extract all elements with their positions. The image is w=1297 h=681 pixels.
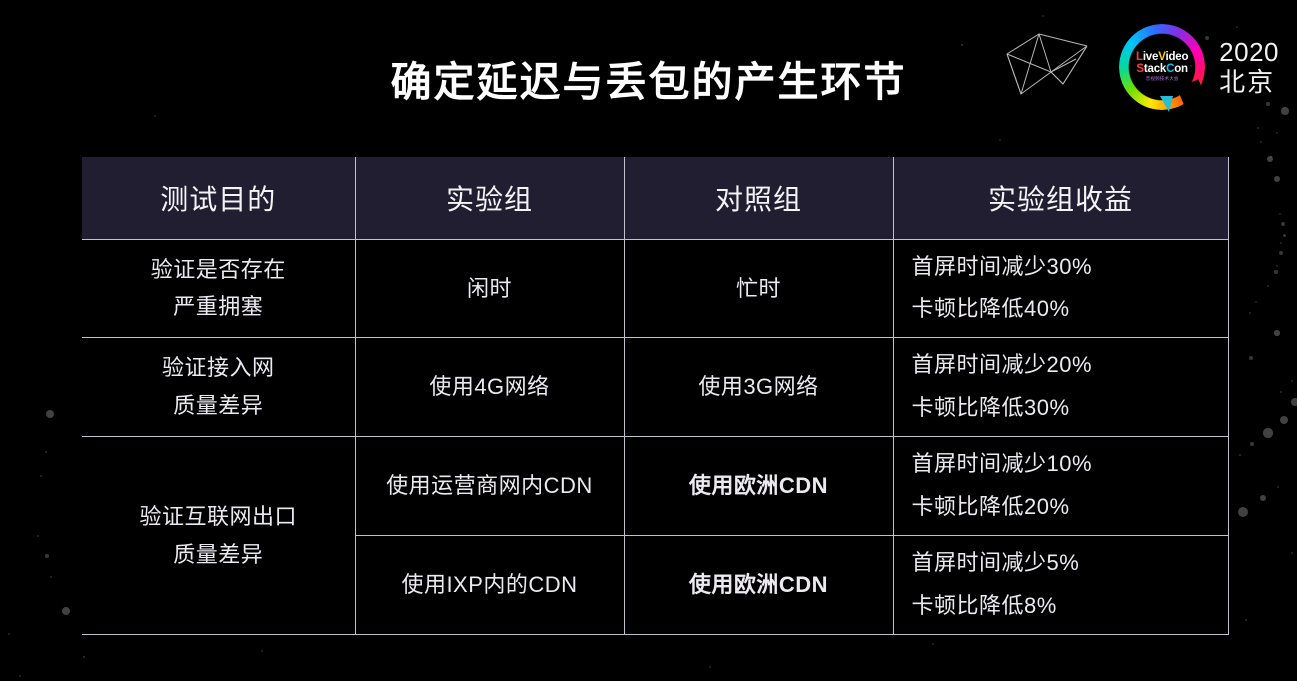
background-particle: [1238, 507, 1248, 517]
cell-control-group-line: 使用欧洲CDN: [635, 467, 883, 505]
logo-subtitle: 音视频技术大会: [1136, 77, 1188, 82]
cell-experiment-benefit-line: 首屏时间减少10%: [912, 443, 1218, 486]
background-particle: [62, 607, 71, 616]
background-particle: [1249, 312, 1252, 315]
cell-experiment-group: 使用运营商网内CDN: [355, 437, 624, 536]
cell-control-group: 忙时: [624, 239, 893, 338]
column-header-experiment: 实验组: [355, 157, 624, 239]
cell-test-purpose-line: 质量差异: [92, 387, 345, 425]
cell-control-group: 使用欧洲CDN: [624, 536, 893, 635]
background-particle: [1276, 132, 1279, 135]
background-particle: [50, 576, 52, 578]
background-particle: [8, 633, 10, 635]
table-row: 验证互联网出口质量差异使用运营商网内CDN使用欧洲CDN首屏时间减少10%卡顿比…: [82, 437, 1228, 536]
cell-test-purpose-line: 验证互联网出口: [92, 498, 345, 536]
cell-control-group: 使用3G网络: [624, 338, 893, 437]
background-particle: [1279, 213, 1282, 216]
background-particle: [1291, 552, 1293, 554]
background-particle: [709, 666, 711, 668]
background-particle: [1255, 301, 1257, 303]
background-particle: [961, 44, 964, 47]
cell-test-purpose: 验证接入网质量差异: [82, 338, 355, 437]
cell-experiment-group-line: 使用IXP内的CDN: [366, 566, 614, 604]
background-particle: [1279, 251, 1284, 256]
cell-test-purpose-line: 质量差异: [92, 536, 345, 574]
background-particle: [1239, 454, 1241, 456]
background-particle: [1267, 156, 1273, 162]
background-particle: [45, 554, 48, 557]
cell-control-group-line: 使用欧洲CDN: [635, 566, 883, 604]
background-particle: [1245, 619, 1247, 621]
background-particle: [1267, 285, 1269, 287]
cell-control-group-line: 使用3G网络: [635, 368, 883, 406]
cell-experiment-benefit-line: 卡顿比降低20%: [912, 486, 1218, 529]
background-particle: [1280, 391, 1282, 393]
background-particle: [40, 475, 42, 477]
background-particle: [45, 451, 47, 453]
table-row: 验证是否存在严重拥塞闲时忙时首屏时间减少30%卡顿比降低40%: [82, 239, 1228, 338]
background-particle: [154, 115, 156, 117]
background-particle: [1291, 398, 1297, 407]
logo-line2-part4: on: [1174, 63, 1188, 75]
cell-experiment-group-line: 使用4G网络: [366, 368, 614, 406]
logo-line2-part3: C: [1166, 63, 1174, 75]
cell-experiment-benefit: 首屏时间减少30%卡顿比降低40%: [893, 239, 1228, 338]
logo-wordmark: LiveVideo StackCon 音视频技术大会: [1136, 52, 1188, 81]
background-particle: [1250, 442, 1253, 445]
background-particle: [1280, 416, 1288, 424]
column-header-control: 对照组: [624, 157, 893, 239]
background-particle: [1263, 428, 1272, 437]
logo-line1-part2: ive: [1143, 51, 1158, 63]
background-particle: [1274, 330, 1279, 335]
cell-test-purpose-line: 验证接入网: [92, 349, 345, 387]
background-particle: [999, 139, 1002, 142]
background-particle: [261, 650, 263, 652]
cell-test-purpose: 验证是否存在严重拥塞: [82, 239, 355, 338]
experiment-comparison-table: 测试目的 实验组 对照组 实验组收益 验证是否存在严重拥塞闲时忙时首屏时间减少3…: [82, 157, 1229, 635]
cell-experiment-benefit-line: 卡顿比降低40%: [912, 288, 1218, 331]
table-header: 测试目的 实验组 对照组 实验组收益: [82, 157, 1228, 239]
table-header-row: 测试目的 实验组 对照组 实验组收益: [82, 157, 1228, 239]
background-particle: [83, 656, 86, 659]
background-particle: [19, 675, 21, 677]
background-particle: [1042, 15, 1044, 17]
cell-control-group: 使用欧洲CDN: [624, 437, 893, 536]
background-particle: [1270, 156, 1272, 158]
cell-experiment-group-line: 闲时: [366, 270, 614, 308]
page-title: 确定延迟与丢包的产生环节: [0, 48, 1297, 108]
background-particle: [37, 535, 39, 537]
cell-experiment-group: 使用IXP内的CDN: [355, 536, 624, 635]
cell-test-purpose-line: 验证是否存在: [92, 251, 345, 289]
background-particle: [1281, 107, 1288, 114]
cell-experiment-benefit-line: 首屏时间减少30%: [912, 246, 1218, 289]
background-particle: [1274, 176, 1280, 182]
cell-experiment-benefit: 首屏时间减少10%卡顿比降低20%: [893, 437, 1228, 536]
background-particle: [1276, 265, 1278, 267]
background-particle: [46, 410, 55, 419]
cell-experiment-benefit: 首屏时间减少20%卡顿比降低30%: [893, 338, 1228, 437]
background-particle: [1260, 141, 1262, 143]
cell-test-purpose-line: 严重拥塞: [92, 288, 345, 326]
logo-line2-part1: S: [1136, 63, 1143, 75]
background-particle: [1249, 356, 1253, 360]
cell-experiment-benefit: 首屏时间减少5%卡顿比降低8%: [893, 536, 1228, 635]
table-body: 验证是否存在严重拥塞闲时忙时首屏时间减少30%卡顿比降低40%验证接入网质量差异…: [82, 239, 1228, 635]
logo-line1-part4: ideo: [1165, 51, 1188, 63]
cell-test-purpose: 验证互联网出口质量差异: [82, 437, 355, 635]
column-header-purpose: 测试目的: [82, 157, 355, 239]
logo-line1-part1: L: [1136, 51, 1143, 63]
background-particle: [1283, 234, 1286, 237]
background-particle: [1280, 242, 1282, 244]
background-particle: [1257, 127, 1259, 129]
cell-experiment-benefit-line: 首屏时间减少20%: [912, 344, 1218, 387]
logo-line2-part2: tack: [1144, 63, 1166, 75]
table-row: 验证接入网质量差异使用4G网络使用3G网络首屏时间减少20%卡顿比降低30%: [82, 338, 1228, 437]
cell-experiment-group: 闲时: [355, 239, 624, 338]
cell-experiment-group-line: 使用运营商网内CDN: [366, 467, 614, 505]
cell-control-group-line: 忙时: [635, 270, 883, 308]
background-particle: [932, 643, 934, 645]
background-particle: [1281, 222, 1285, 226]
cell-experiment-benefit-line: 卡顿比降低8%: [912, 585, 1218, 628]
slide-root: LiveVideo StackCon 音视频技术大会 2020 北京 确定延迟与…: [0, 0, 1297, 681]
background-particle: [1277, 486, 1280, 489]
column-header-benefit: 实验组收益: [893, 157, 1228, 239]
cell-experiment-benefit-line: 卡顿比降低30%: [912, 387, 1218, 430]
background-particle: [1260, 495, 1266, 501]
background-particle: [1291, 380, 1293, 382]
cell-experiment-benefit-line: 首屏时间减少5%: [912, 542, 1218, 585]
cell-experiment-group: 使用4G网络: [355, 338, 624, 437]
background-particle: [1274, 270, 1277, 273]
